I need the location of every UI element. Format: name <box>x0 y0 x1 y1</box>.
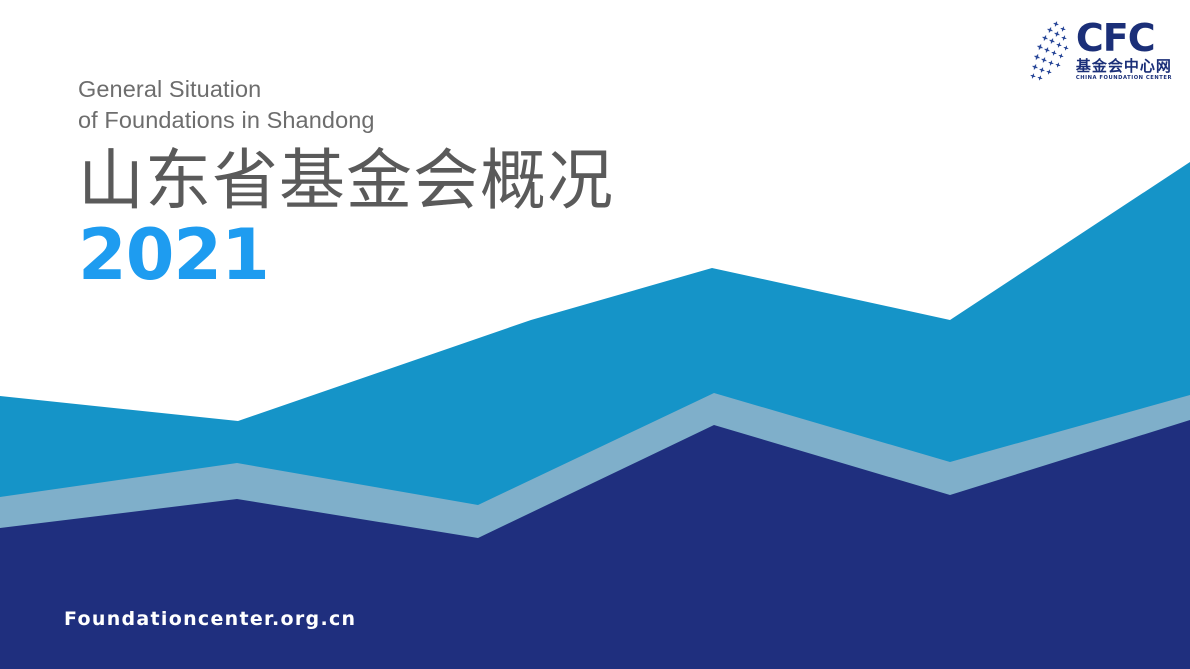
presentation-slide: CFC 基金会中心网 CHINA FOUNDATION CENTER Gener… <box>0 0 1190 669</box>
subtitle-line-2: of Foundations in Shandong <box>78 105 614 136</box>
cfc-acronym: CFC <box>1076 20 1155 56</box>
title-block: General Situation of Foundations in Shan… <box>78 74 614 290</box>
page-title: 山东省基金会概况 <box>78 144 614 218</box>
cfc-chinese-name: 基金会中心网 <box>1076 59 1172 74</box>
cfc-english-name: CHINA FOUNDATION CENTER <box>1076 76 1172 81</box>
cfc-logo: CFC 基金会中心网 CHINA FOUNDATION CENTER <box>1026 20 1172 82</box>
title-year: 2021 <box>78 220 614 290</box>
subtitle-line-1: General Situation <box>78 74 614 105</box>
footer-website-url[interactable]: Foundationcenter.org.cn <box>64 608 356 630</box>
cfc-dotted-swoosh-icon <box>1026 20 1072 82</box>
cfc-logo-text: CFC 基金会中心网 CHINA FOUNDATION CENTER <box>1076 20 1172 81</box>
